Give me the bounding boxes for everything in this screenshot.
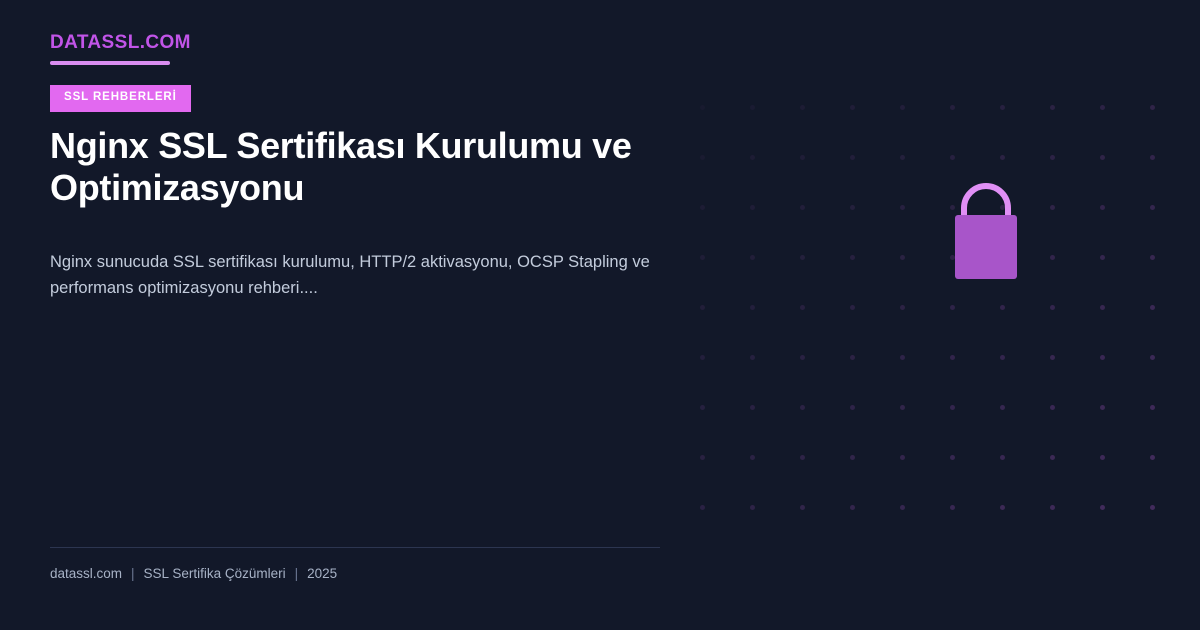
grid-dot: [900, 155, 905, 160]
grid-dot: [950, 455, 955, 460]
grid-dot: [850, 105, 855, 110]
grid-dot: [1050, 155, 1055, 160]
grid-dot: [900, 255, 905, 260]
grid-dot: [900, 505, 905, 510]
grid-dot: [1100, 105, 1105, 110]
grid-dot: [1100, 455, 1105, 460]
grid-dot: [1000, 355, 1005, 360]
grid-dot: [1150, 105, 1155, 110]
footer-tagline: SSL Sertifika Çözümleri: [144, 566, 286, 581]
grid-dot: [1050, 455, 1055, 460]
grid-dot: [900, 205, 905, 210]
grid-dot: [800, 155, 805, 160]
grid-dot: [1050, 405, 1055, 410]
grid-dot: [1100, 355, 1105, 360]
grid-dot: [750, 505, 755, 510]
grid-dot: [950, 155, 955, 160]
grid-dot: [1150, 505, 1155, 510]
page-description: Nginx sunucuda SSL sertifikası kurulumu,…: [50, 250, 710, 301]
grid-dot: [1100, 305, 1105, 310]
grid-dot: [1050, 305, 1055, 310]
grid-dot: [850, 205, 855, 210]
grid-dot: [800, 105, 805, 110]
grid-dot: [900, 405, 905, 410]
grid-dot: [1150, 305, 1155, 310]
footer-site: datassl.com: [50, 566, 122, 581]
footer: datassl.com | SSL Sertifika Çözümleri | …: [50, 547, 660, 581]
grid-dot: [1050, 355, 1055, 360]
grid-dot: [800, 455, 805, 460]
grid-dot: [800, 505, 805, 510]
grid-dot: [850, 405, 855, 410]
grid-dot: [750, 205, 755, 210]
grid-dot: [900, 105, 905, 110]
brand-name: DATASSL.COM: [50, 33, 191, 52]
grid-dot: [850, 155, 855, 160]
grid-dot: [850, 455, 855, 460]
grid-dot: [950, 105, 955, 110]
grid-dot: [800, 355, 805, 360]
grid-dot: [1000, 305, 1005, 310]
grid-dot: [750, 455, 755, 460]
grid-dot: [750, 405, 755, 410]
brand-underline: [50, 61, 170, 65]
content-column: DATASSL.COM SSL REHBERLERİ Nginx SSL Ser…: [50, 0, 710, 630]
grid-dot: [750, 305, 755, 310]
footer-separator-1: |: [122, 566, 144, 581]
grid-dot: [1050, 505, 1055, 510]
grid-dot: [900, 355, 905, 360]
footer-divider: [50, 547, 660, 548]
grid-dot: [1050, 105, 1055, 110]
grid-dot: [1100, 505, 1105, 510]
grid-dot: [900, 455, 905, 460]
grid-dot: [850, 505, 855, 510]
grid-dot: [800, 405, 805, 410]
grid-dot: [950, 405, 955, 410]
grid-dot: [1100, 205, 1105, 210]
grid-dot: [750, 255, 755, 260]
grid-dot: [800, 305, 805, 310]
grid-dot: [1100, 155, 1105, 160]
dot-grid-decoration: [700, 105, 1200, 525]
footer-separator-2: |: [286, 566, 308, 581]
category-badge: SSL REHBERLERİ: [50, 85, 191, 112]
grid-dot: [850, 355, 855, 360]
footer-meta: datassl.com | SSL Sertifika Çözümleri | …: [50, 566, 660, 581]
page-title: Nginx SSL Sertifikası Kurulumu ve Optimi…: [50, 125, 690, 210]
grid-dot: [800, 255, 805, 260]
brand-block: DATASSL.COM: [50, 33, 191, 65]
grid-dot: [1000, 505, 1005, 510]
grid-dot: [750, 155, 755, 160]
grid-dot: [1050, 205, 1055, 210]
grid-dot: [750, 105, 755, 110]
grid-dot: [950, 505, 955, 510]
grid-dot: [1150, 255, 1155, 260]
grid-dot: [850, 305, 855, 310]
grid-dot: [1000, 105, 1005, 110]
grid-dot: [850, 255, 855, 260]
footer-year: 2025: [307, 566, 337, 581]
grid-dot: [950, 305, 955, 310]
grid-dot: [1150, 355, 1155, 360]
grid-dot: [1150, 205, 1155, 210]
grid-dot: [900, 305, 905, 310]
grid-dot: [1150, 155, 1155, 160]
grid-dot: [1100, 405, 1105, 410]
grid-dot: [1050, 255, 1055, 260]
grid-dot: [1150, 455, 1155, 460]
grid-dot: [750, 355, 755, 360]
grid-dot: [800, 205, 805, 210]
grid-dot: [1000, 455, 1005, 460]
grid-dot: [950, 355, 955, 360]
og-card: DATASSL.COM SSL REHBERLERİ Nginx SSL Ser…: [0, 0, 1200, 630]
grid-dot: [1000, 405, 1005, 410]
grid-dot: [1000, 155, 1005, 160]
padlock-icon: [938, 178, 1034, 290]
grid-dot: [1150, 405, 1155, 410]
grid-dot: [1100, 255, 1105, 260]
